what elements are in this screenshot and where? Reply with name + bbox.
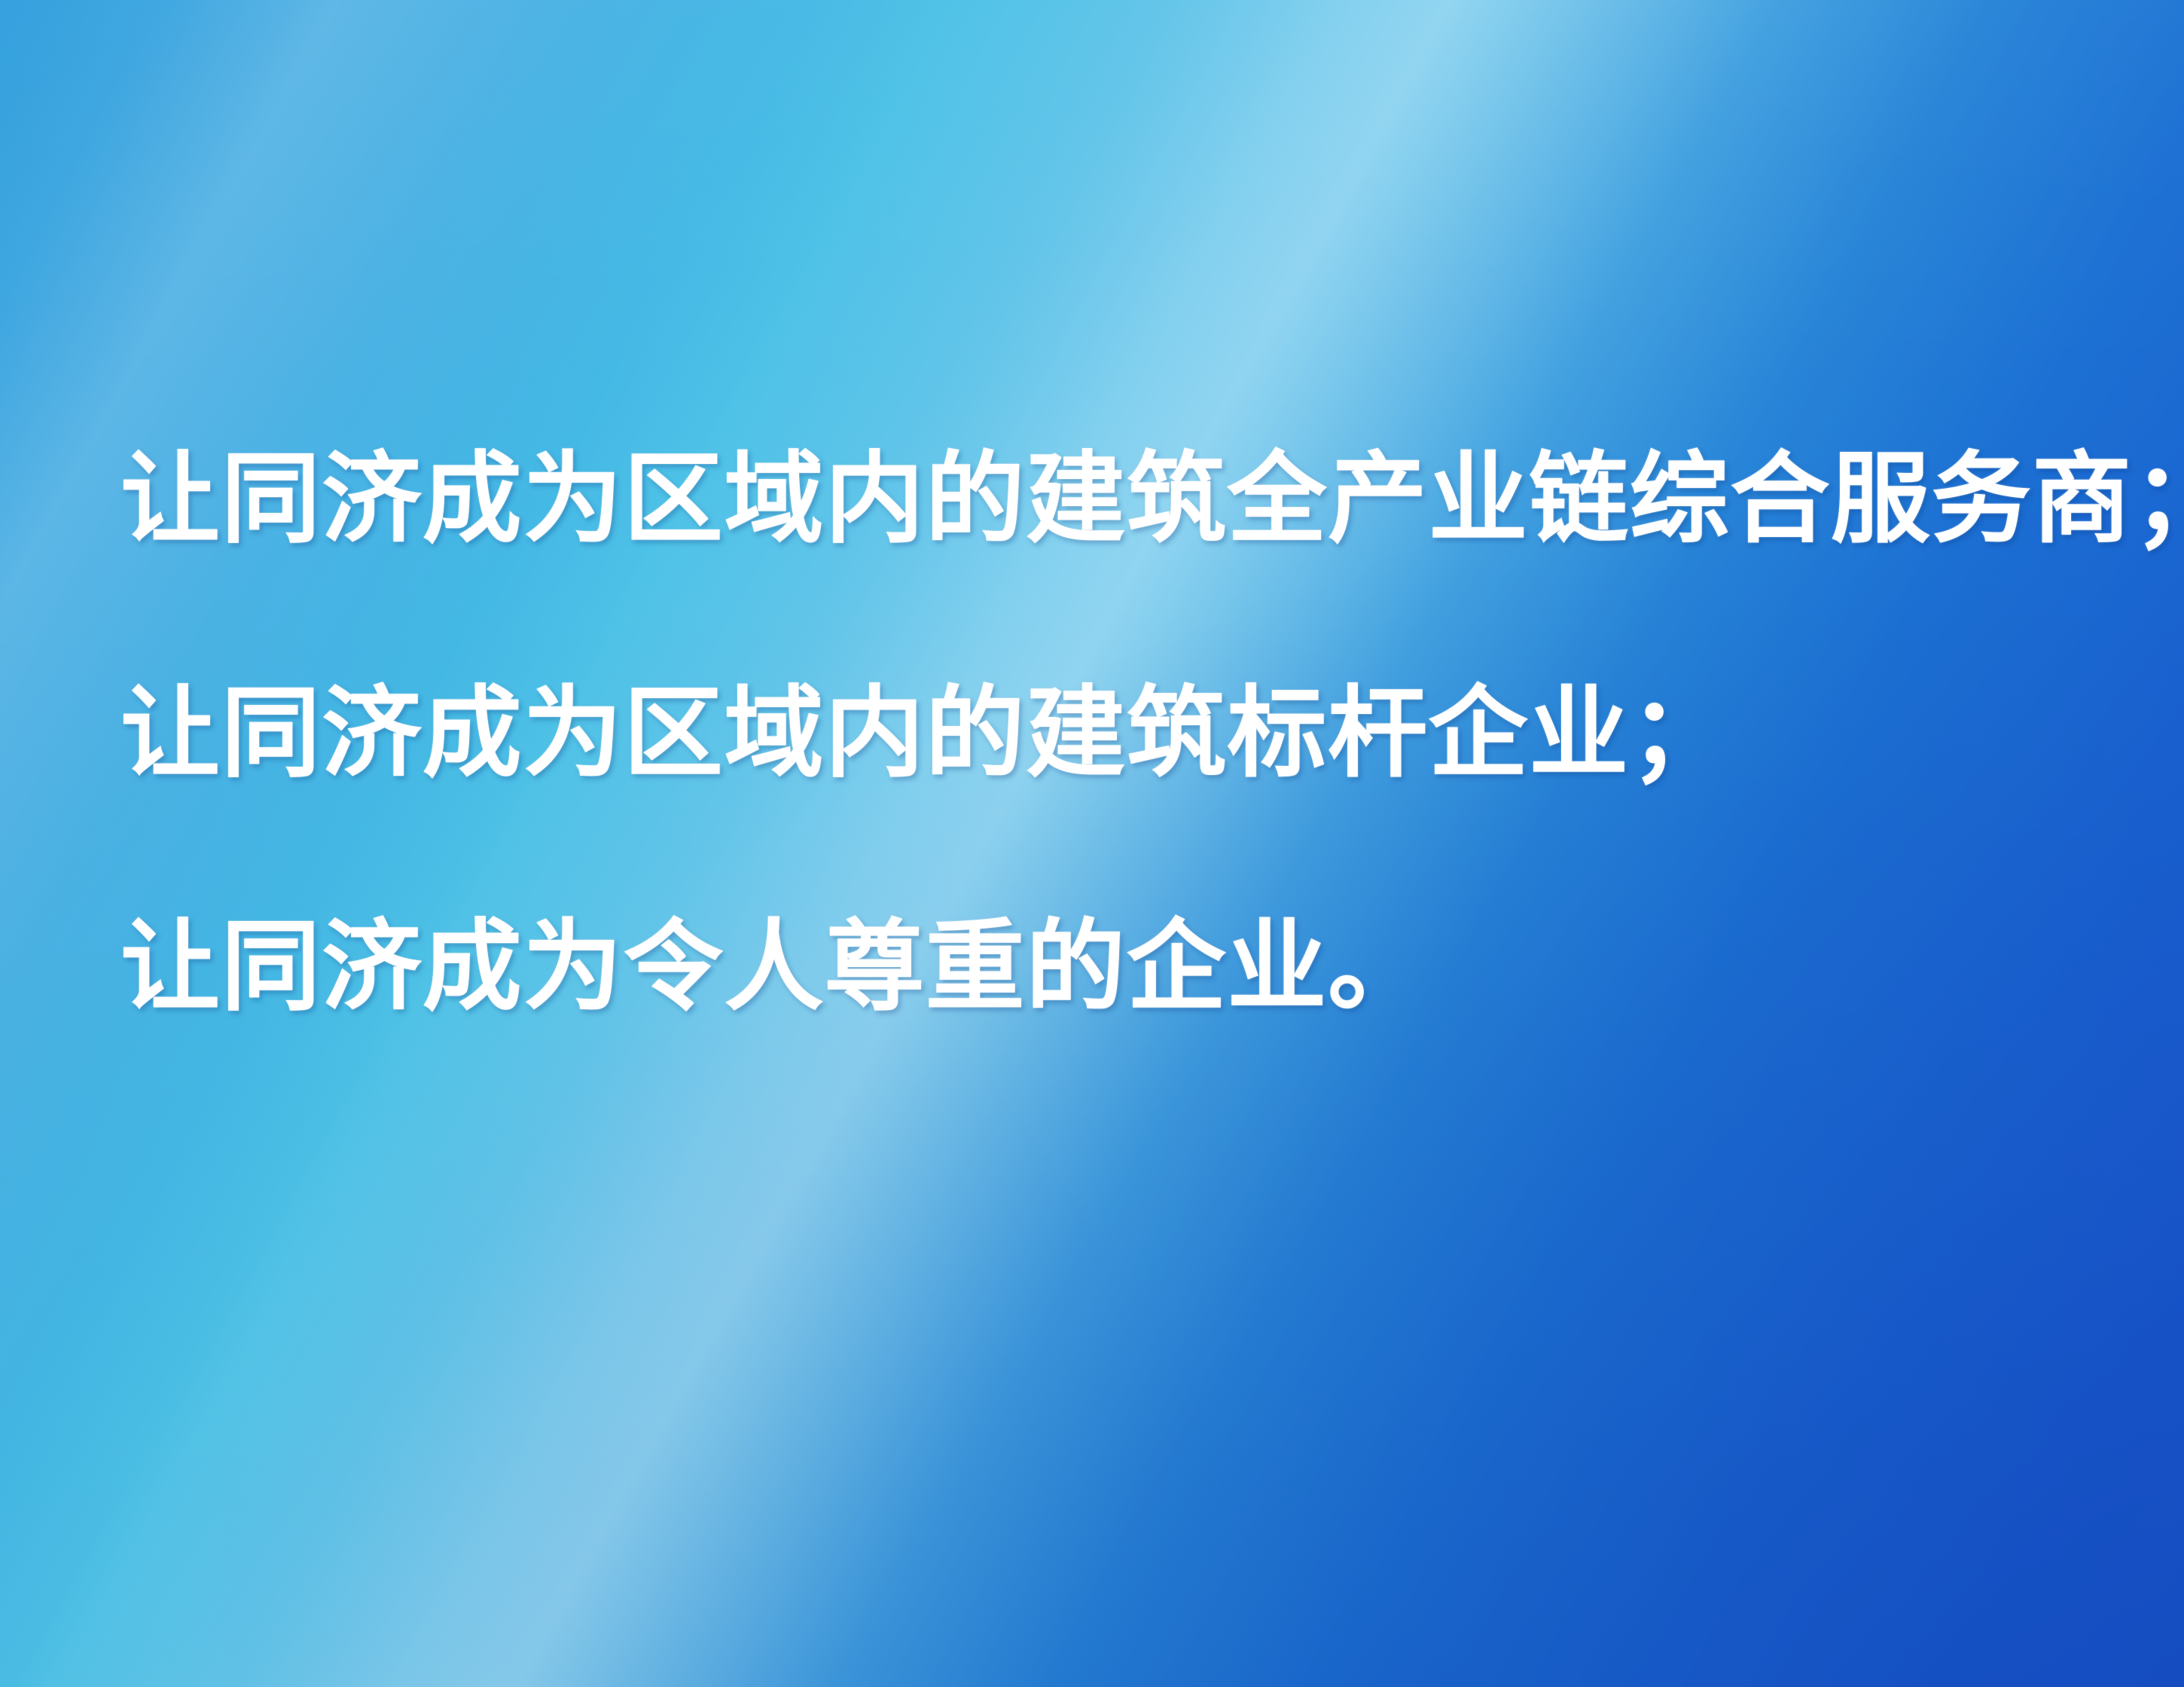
- vision-statement-block: 让同济成为区域内的建筑全产业链综合服务商； 让同济成为区域内的建筑标杆企业； 让…: [120, 449, 2094, 1018]
- vision-line-1: 让同济成为区域内的建筑全产业链综合服务商；: [120, 449, 2094, 551]
- vision-line-2: 让同济成为区域内的建筑标杆企业；: [120, 683, 2094, 785]
- vision-line-3: 让同济成为令人尊重的企业。: [120, 917, 2094, 1018]
- presentation-slide: 让同济成为区域内的建筑全产业链综合服务商； 让同济成为区域内的建筑标杆企业； 让…: [0, 0, 2184, 1687]
